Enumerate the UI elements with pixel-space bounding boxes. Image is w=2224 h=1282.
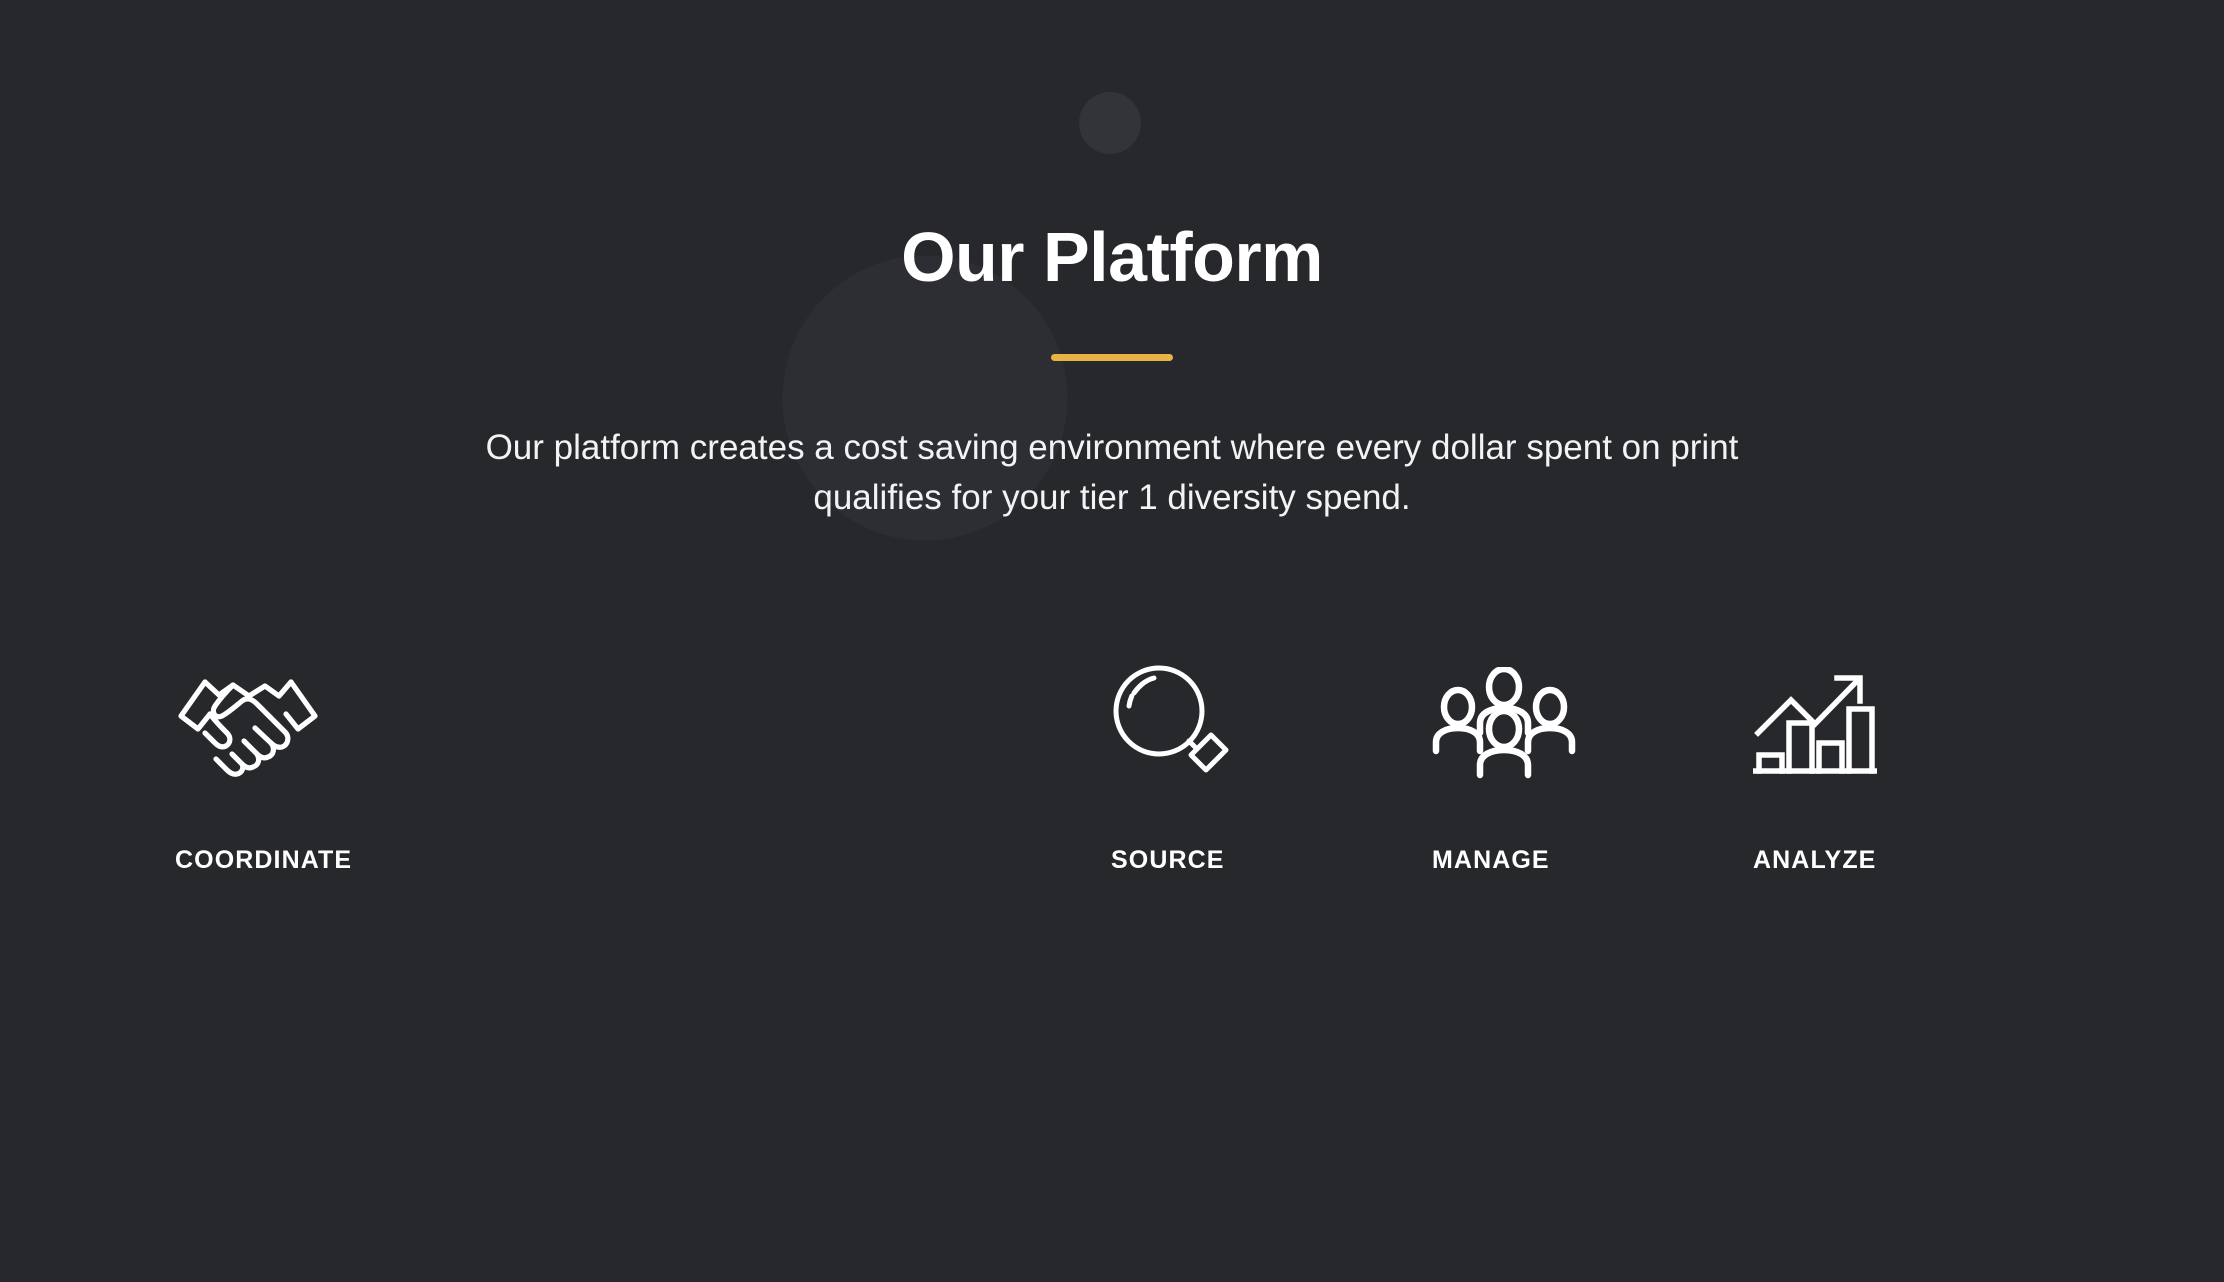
people-group-icon [1432, 668, 1576, 778]
handshake-icon [175, 668, 321, 778]
feature-item-analyze[interactable]: ANALYZE [1753, 668, 2074, 875]
accent-divider [1051, 354, 1173, 361]
feature-item-manage[interactable]: MANAGE [1432, 668, 1753, 875]
feature-label: ANALYZE [1753, 846, 1876, 875]
feature-item-source[interactable]: SOURCE [496, 668, 1432, 875]
feature-label: MANAGE [1432, 846, 1550, 875]
hero-subtitle: Our platform creates a cost saving envir… [462, 423, 1762, 522]
feature-label: SOURCE [1111, 846, 1225, 875]
feature-label: COORDINATE [175, 846, 352, 875]
magnifying-glass-icon [1111, 668, 1233, 778]
bar-chart-trend-up-icon [1753, 668, 1877, 778]
feature-list: COORDINATE SOURCE [0, 668, 2224, 875]
page-title: Our Platform [0, 222, 2224, 292]
feature-item-coordinate[interactable]: COORDINATE [175, 668, 496, 875]
hero-section: Our Platform Our platform creates a cost… [0, 0, 2224, 522]
